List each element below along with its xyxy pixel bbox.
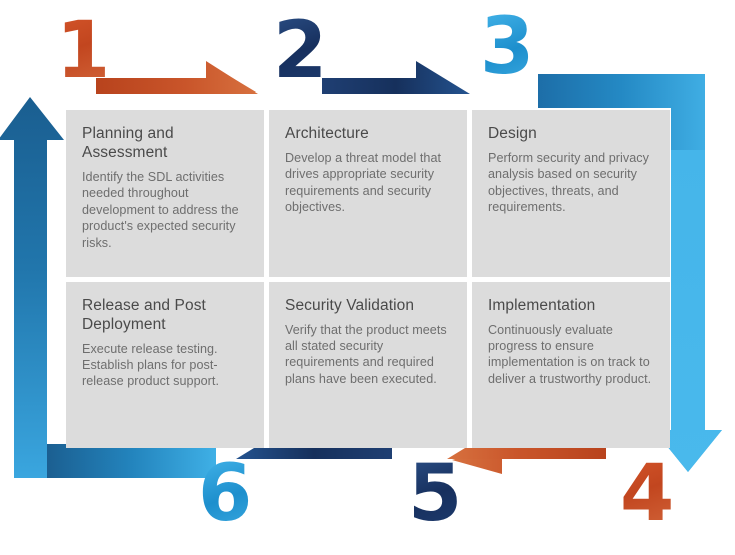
step-card-title: Planning and Assessment [82, 124, 248, 162]
step-card-title: Release and Post Deployment [82, 296, 248, 334]
step-card-security-validation: Security Validation Verify that the prod… [269, 282, 467, 449]
step-card-body: Execute release testing. Establish plans… [82, 341, 248, 390]
step-card-title: Security Validation [285, 296, 451, 315]
step-card-design: Design Perform security and privacy anal… [472, 110, 670, 277]
step-number-2: 2 [273, 12, 325, 90]
sdl-process-diagram: 1 2 3 4 5 6 Planning and Assessment Iden… [0, 0, 735, 555]
step-card-title: Implementation [488, 296, 654, 315]
step-card-title: Design [488, 124, 654, 143]
step-number-5: 5 [408, 455, 460, 533]
step-number-6: 6 [198, 455, 250, 533]
step-number-3: 3 [480, 8, 532, 86]
arrow-2-to-3 [322, 61, 470, 94]
step-card-body: Verify that the product meets all stated… [285, 322, 451, 388]
step-card-body: Perform security and privacy analysis ba… [488, 150, 654, 216]
step-card-planning-and-assessment: Planning and Assessment Identify the SDL… [66, 110, 264, 277]
arrow-1-to-2 [96, 61, 258, 94]
step-card-release-and-post-deployment: Release and Post Deployment Execute rele… [66, 282, 264, 449]
step-card-implementation: Implementation Continuously evaluate pro… [472, 282, 670, 449]
process-step-grid: Planning and Assessment Identify the SDL… [66, 110, 670, 448]
step-number-4: 4 [620, 455, 672, 533]
step-card-architecture: Architecture Develop a threat model that… [269, 110, 467, 277]
step-number-1: 1 [56, 12, 108, 90]
step-card-body: Develop a threat model that drives appro… [285, 150, 451, 216]
step-card-body: Continuously evaluate progress to ensure… [488, 322, 654, 388]
step-card-title: Architecture [285, 124, 451, 143]
step-card-body: Identify the SDL activities needed throu… [82, 169, 248, 251]
